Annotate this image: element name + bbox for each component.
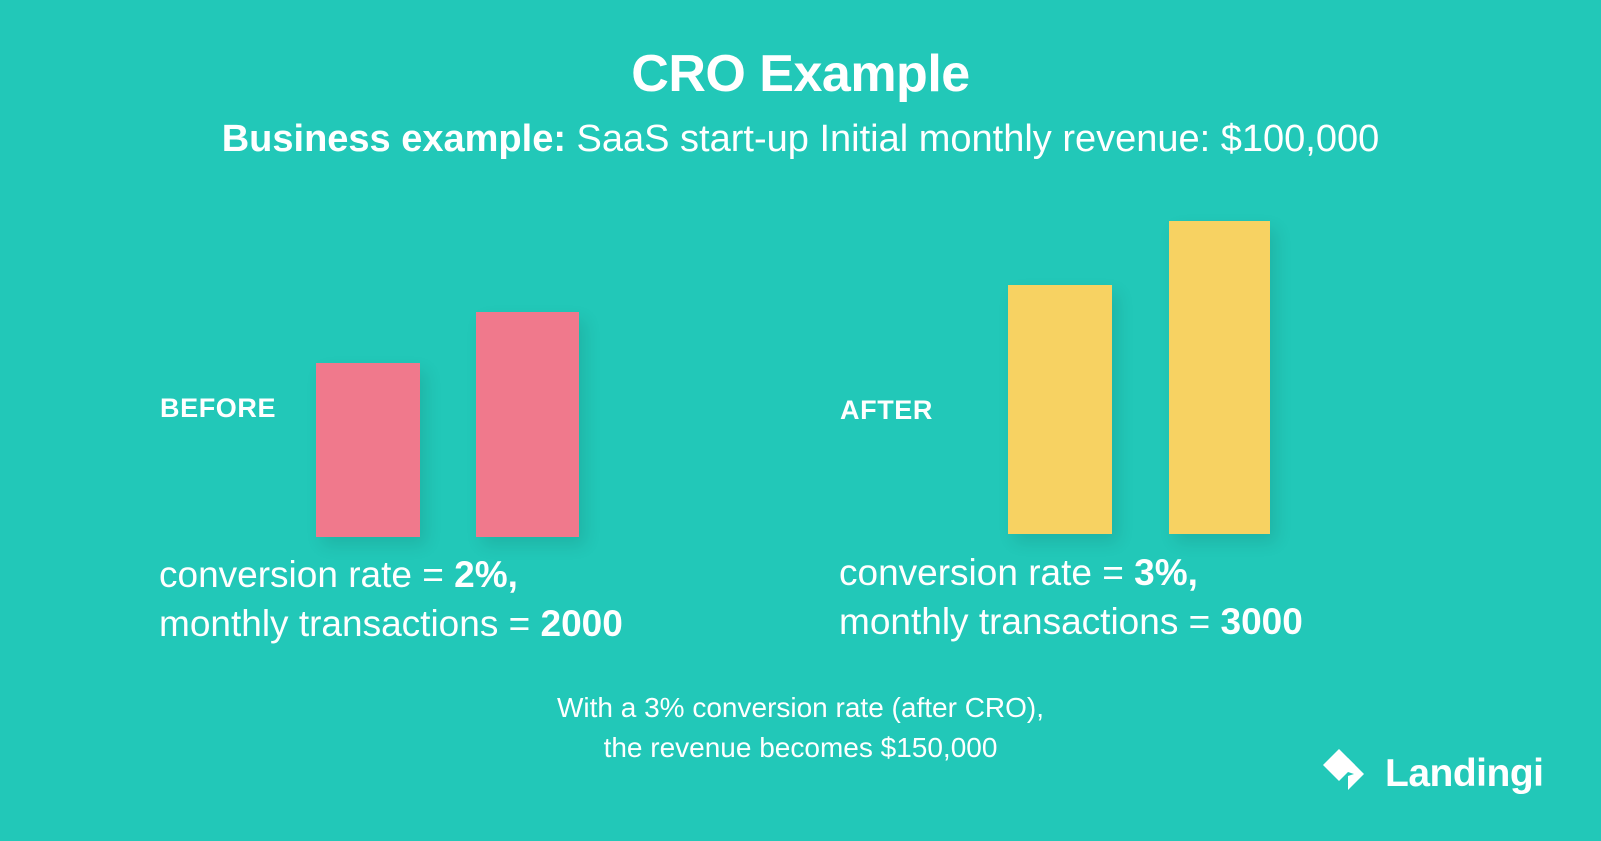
cro-example-infographic: CRO Example Business example: SaaS start… bbox=[0, 0, 1601, 841]
after-stat-line1-prefix: conversion rate = bbox=[839, 552, 1134, 593]
page-subtitle: Business example: SaaS start-up Initial … bbox=[0, 117, 1601, 163]
before-conversion-rate: 2%, bbox=[454, 554, 518, 595]
before-monthly-transactions: 2000 bbox=[541, 603, 623, 644]
subtitle-lead: Business example: bbox=[222, 118, 566, 160]
subtitle-rest: SaaS start-up Initial monthly revenue: $… bbox=[566, 118, 1379, 160]
before-bar-1 bbox=[316, 363, 420, 537]
after-conversion-rate: 3%, bbox=[1134, 552, 1198, 593]
before-stat-line1-prefix: conversion rate = bbox=[159, 554, 454, 595]
before-bar-2 bbox=[476, 312, 579, 537]
landingi-logo: Landingi bbox=[1322, 748, 1543, 798]
after-bar-1 bbox=[1008, 285, 1112, 534]
before-stat-line2-prefix: monthly transactions = bbox=[159, 603, 541, 644]
after-monthly-transactions: 3000 bbox=[1221, 601, 1303, 642]
after-bar-2 bbox=[1169, 221, 1270, 534]
landingi-wordmark: Landingi bbox=[1385, 754, 1543, 793]
after-stats: conversion rate = 3%, monthly transactio… bbox=[839, 549, 1303, 647]
before-stats: conversion rate = 2%, monthly transactio… bbox=[159, 551, 623, 649]
page-title: CRO Example bbox=[0, 46, 1601, 103]
footnote-line-2: the revenue becomes $150,000 bbox=[604, 732, 998, 763]
after-stat-line2-prefix: monthly transactions = bbox=[839, 601, 1221, 642]
footnote-line-1: With a 3% conversion rate (after CRO), bbox=[557, 692, 1044, 723]
after-label: AFTER bbox=[840, 395, 933, 426]
landingi-diamond-icon bbox=[1322, 748, 1372, 798]
before-label: BEFORE bbox=[160, 393, 276, 424]
